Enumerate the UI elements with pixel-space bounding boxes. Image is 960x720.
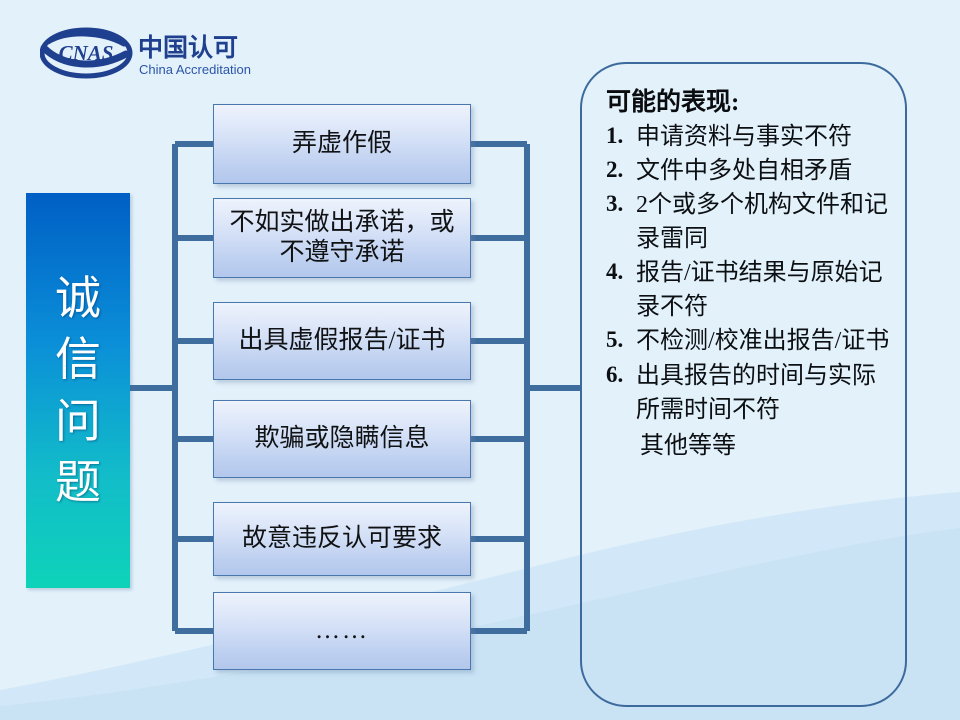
list-item-text: 申请资料与事实不符 (636, 120, 891, 154)
slide-canvas: CNAS 中国认可 China Accreditation 诚 信 问 题 (0, 0, 960, 720)
list-item: 6. 出具报告的时间与实际所需时间不符 (602, 359, 891, 427)
panel-trailing-text: 其他等等 (640, 427, 891, 463)
manifestations-panel: 可能的表现: 1. 申请资料与事实不符 2. 文件中多处自相矛盾 3. 2个或多… (580, 62, 907, 707)
list-item: 5. 不检测/校准出报告/证书 (602, 324, 891, 358)
issue-box-4-label: 欺骗或隐瞒信息 (248, 424, 435, 455)
list-item-text: 2个或多个机构文件和记录雷同 (636, 188, 891, 256)
issue-box-4[interactable]: 欺骗或隐瞒信息 (213, 400, 471, 478)
issue-box-3[interactable]: 出具虚假报告/证书 (213, 302, 471, 380)
list-item-number: 4. (602, 256, 636, 289)
issue-box-3-label: 出具虚假报告/证书 (233, 326, 452, 357)
issue-box-2-label: 不如实做出承诺，或不遵守承诺 (214, 208, 470, 269)
issue-box-1[interactable]: 弄虚作假 (213, 104, 471, 184)
issue-box-5[interactable]: 故意违反认可要求 (213, 502, 471, 576)
panel-title: 可能的表现: (606, 82, 891, 118)
list-item-text: 报告/证书结果与原始记录不符 (636, 256, 891, 324)
issue-box-6-label: …… (309, 616, 375, 647)
list-item-text: 不检测/校准出报告/证书 (636, 324, 891, 358)
list-item-text: 文件中多处自相矛盾 (636, 154, 891, 188)
list-item: 1. 申请资料与事实不符 (602, 120, 891, 154)
list-item-text: 出具报告的时间与实际所需时间不符 (636, 359, 891, 427)
list-item-number: 2. (602, 154, 636, 187)
list-item-number: 3. (602, 188, 636, 221)
list-item-number: 6. (602, 359, 636, 392)
issue-box-6[interactable]: …… (213, 592, 471, 670)
list-item-number: 5. (602, 324, 636, 357)
issue-box-1-label: 弄虚作假 (286, 129, 398, 160)
panel-list: 1. 申请资料与事实不符 2. 文件中多处自相矛盾 3. 2个或多个机构文件和记… (598, 120, 891, 427)
list-item-number: 1. (602, 120, 636, 153)
issue-box-2[interactable]: 不如实做出承诺，或不遵守承诺 (213, 198, 471, 278)
list-item: 2. 文件中多处自相矛盾 (602, 154, 891, 188)
issue-box-5-label: 故意违反认可要求 (236, 524, 448, 555)
list-item: 4. 报告/证书结果与原始记录不符 (602, 256, 891, 324)
list-item: 3. 2个或多个机构文件和记录雷同 (602, 188, 891, 256)
